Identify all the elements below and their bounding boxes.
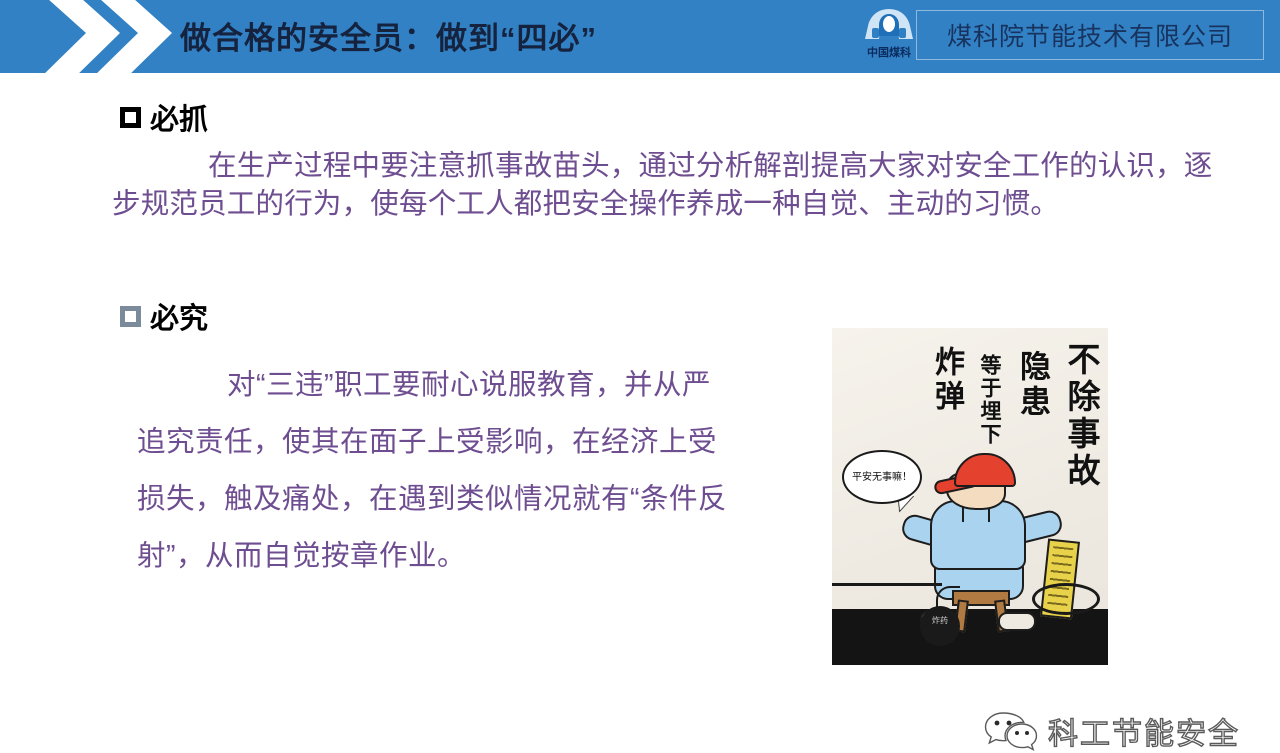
page-title: 做合格的安全员：做到“四必”: [180, 13, 597, 58]
section-body-bijiu: 对“三违”职工要耐心说服教育，并从严追究责任，使其在面子上受影响，在经济上受损失…: [137, 357, 737, 585]
bomb-label: 炸药: [928, 616, 952, 636]
section-heading-bizhua: 必抓: [120, 96, 208, 138]
company-name-box: 煤科院节能技术有限公司: [916, 10, 1264, 60]
cartoon-calligraphy-line-2: 隐患: [1017, 350, 1046, 420]
wechat-watermark: 科工节能安全: [983, 709, 1240, 753]
wechat-icon: [983, 710, 1039, 752]
safety-cartoon-illustration: 不除事故 隐患 等于埋下 炸弹 平安无事嘛！ 炸药: [832, 328, 1108, 665]
section-heading-label: 必抓: [150, 96, 208, 138]
double-chevron-right-icon: [28, 0, 188, 73]
company-name: 煤科院节能技术有限公司: [947, 17, 1233, 53]
slide-content: 必抓 在生产过程中要注意抓事故苗头，通过分析解剖提高大家对安全工作的认识，逐步规…: [0, 73, 1280, 720]
cartoon-coil-shape: [1032, 583, 1100, 615]
worker-helmet: [954, 453, 1016, 487]
square-bullet-black-icon: [120, 107, 141, 128]
section-heading-label: 必究: [150, 295, 208, 337]
cartoon-calligraphy-line-3: 等于埋下: [981, 354, 1000, 446]
bomb-fuse-wire: [832, 583, 942, 586]
section-heading-bijiu: 必究: [120, 295, 208, 337]
slide-header-bar: 做合格的安全员：做到“四必” 中国煤科 煤科院节能技术有限公司: [0, 0, 1280, 73]
bomb-icon: 炸药: [920, 606, 960, 646]
watermark-label: 科工节能安全: [1048, 709, 1240, 753]
cartoon-calligraphy-line-4: 炸弹: [932, 346, 960, 414]
china-coal-emblem-icon: [863, 8, 915, 42]
section-body-bizhua: 在生产过程中要注意抓事故苗头，通过分析解剖提高大家对安全工作的认识，逐步规范员工…: [112, 147, 1227, 223]
square-bullet-gray-icon: [120, 306, 141, 327]
worker-shoe-right: [998, 612, 1036, 631]
